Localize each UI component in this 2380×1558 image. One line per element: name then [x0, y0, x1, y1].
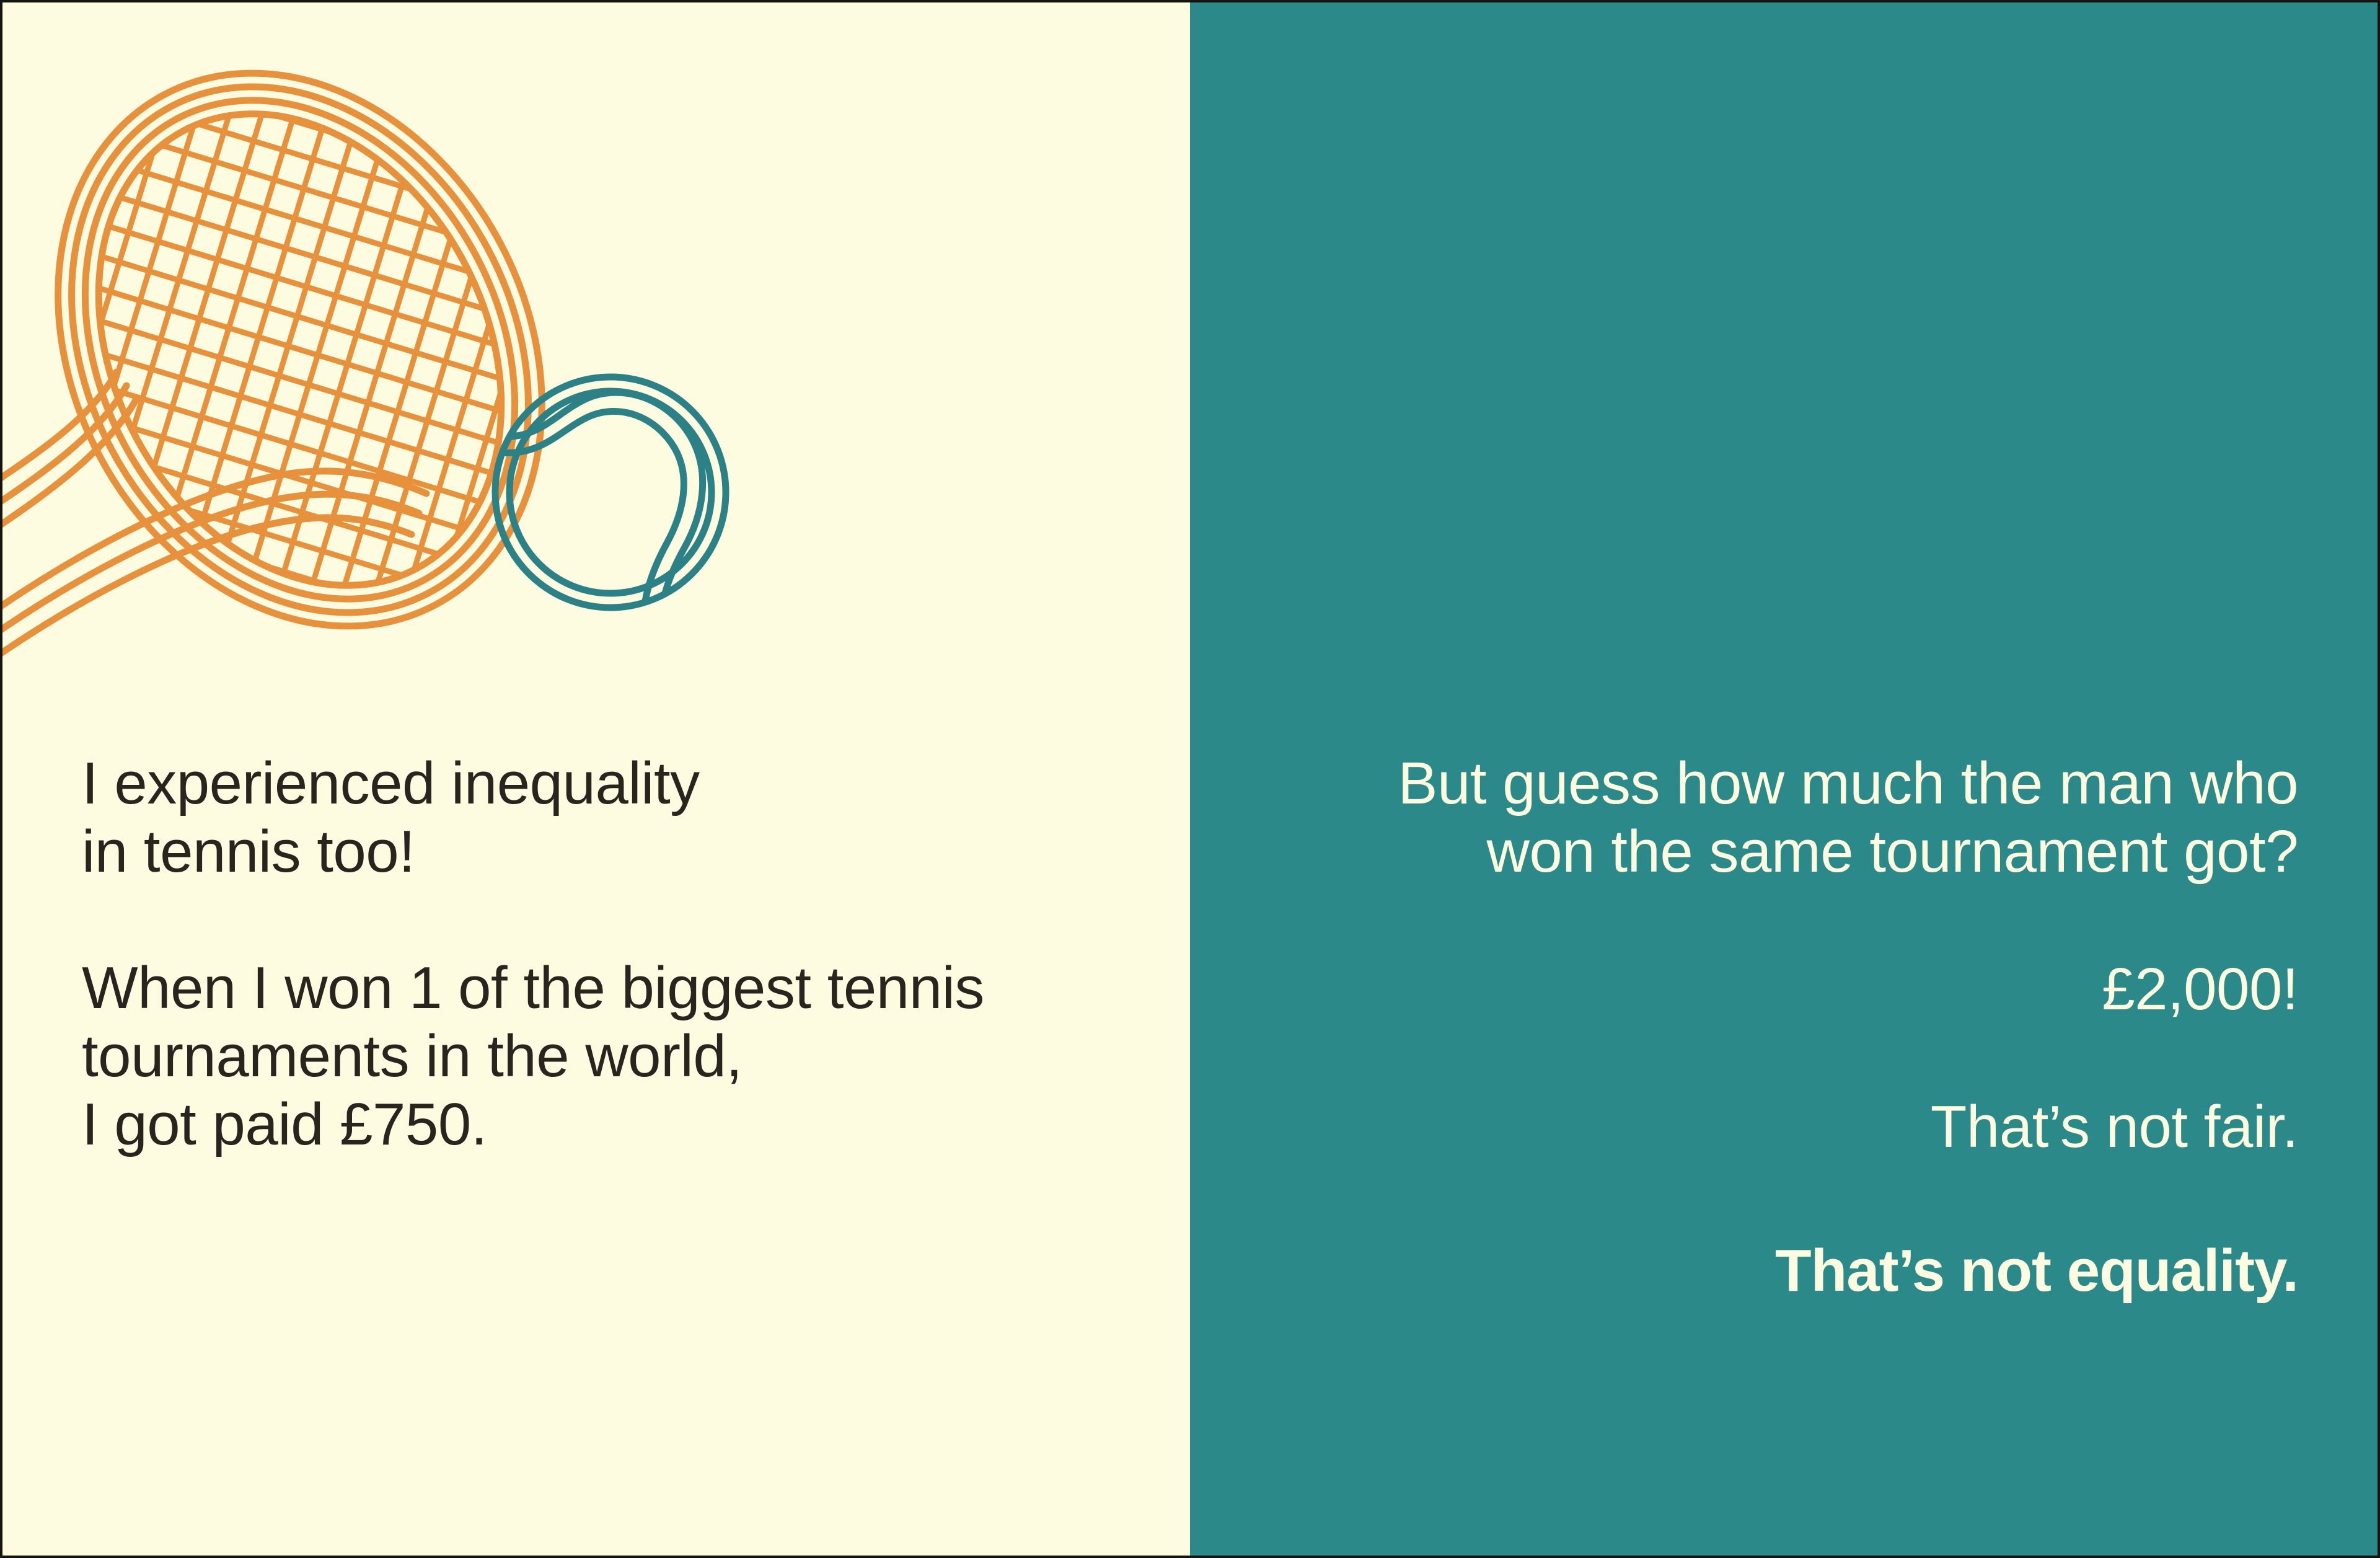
right-page: But guess how much the man who won the s… — [1190, 2, 2378, 1556]
left-line-3: When I won 1 of the biggest tennis — [82, 954, 1104, 1022]
block-spacer-3 — [1269, 1161, 2298, 1237]
right-line-1: But guess how much the man who — [1269, 750, 2298, 818]
racket-strings-icon — [2, 2, 1125, 734]
right-line-2: won the same tournament got? — [1269, 818, 2298, 886]
block-spacer-1 — [1269, 886, 2298, 955]
tennis-ball-icon — [495, 377, 726, 608]
tennis-ball-seam-icon — [495, 392, 703, 634]
block-spacer-2 — [1269, 1024, 2298, 1093]
left-line-5: I got paid £750. — [82, 1091, 1104, 1159]
prize-amount: £2,000! — [1269, 955, 2298, 1024]
racket-handle-icon — [2, 372, 426, 678]
left-page: I experienced inequality in tennis too! … — [2, 2, 1190, 1556]
not-fair-line: That’s not fair. — [1269, 1093, 2298, 1161]
racket-frame-icon — [2, 2, 636, 711]
left-page-text: I experienced inequality in tennis too! … — [82, 750, 1104, 1159]
left-line-1: I experienced inequality — [82, 750, 1104, 818]
left-line-4: tournaments in the world, — [82, 1022, 1104, 1091]
paragraph-spacer — [82, 886, 1104, 954]
book-spread: I experienced inequality in tennis too! … — [0, 0, 2380, 1558]
right-page-text: But guess how much the man who won the s… — [1269, 750, 2298, 1305]
tennis-illustration — [2, 2, 1190, 734]
not-equality-line: That’s not equality. — [1269, 1237, 2298, 1305]
left-line-2: in tennis too! — [82, 818, 1104, 886]
